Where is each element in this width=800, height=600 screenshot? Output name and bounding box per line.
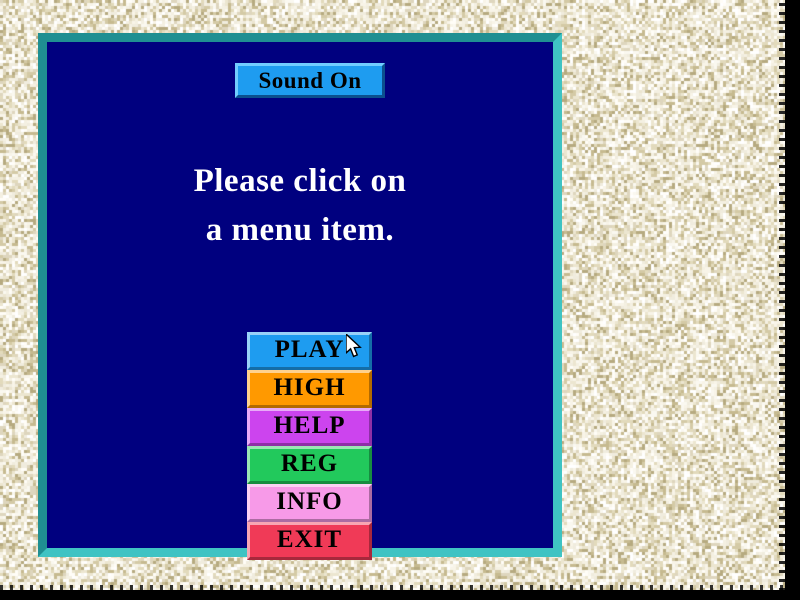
game-screen: Sound On Please click on a menu item. PL… (0, 0, 800, 600)
menu-item-info[interactable]: INFO (247, 484, 372, 522)
menu-item-play[interactable]: PLAY (247, 332, 372, 370)
menu-item-reg[interactable]: REG (247, 446, 372, 484)
menu-item-high[interactable]: HIGH (247, 370, 372, 408)
prompt-line-1: Please click on (47, 157, 553, 206)
main-menu: PLAY HIGH HELP REG INFO EXIT (247, 332, 372, 560)
frame-right-edge (785, 0, 800, 600)
sound-toggle-button[interactable]: Sound On (235, 63, 385, 98)
frame-bottom-edge (0, 590, 800, 600)
prompt-text: Please click on a menu item. (47, 157, 553, 255)
prompt-line-2: a menu item. (47, 206, 553, 255)
main-panel-inner: Sound On Please click on a menu item. PL… (47, 42, 553, 548)
main-panel: Sound On Please click on a menu item. PL… (38, 33, 562, 557)
menu-item-exit[interactable]: EXIT (247, 522, 372, 560)
menu-item-help[interactable]: HELP (247, 408, 372, 446)
